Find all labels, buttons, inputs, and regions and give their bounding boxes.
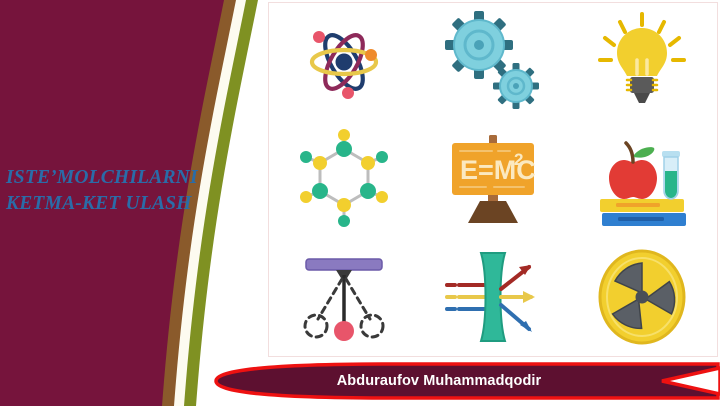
emc2-sign-icon: E=MC 2 — [438, 127, 548, 231]
icon-cell-radiation — [568, 238, 717, 356]
icon-cell-emc2-sign: E=MC 2 — [418, 121, 567, 239]
ribbon-shape — [210, 360, 720, 402]
icon-cell-atom — [269, 3, 418, 121]
emc2-text: E=MC — [460, 155, 536, 185]
atom-icon — [292, 10, 396, 114]
science-icon-grid: E=MC 2 — [269, 3, 717, 356]
gears-icon — [441, 10, 545, 114]
emc2-superscript: 2 — [514, 150, 523, 169]
molecule-icon — [292, 127, 396, 231]
title-line-1: ISTE’MOLCHILARNI — [6, 165, 256, 191]
icon-cell-lens — [418, 238, 567, 356]
lens-refraction-icon — [441, 245, 545, 349]
author-ribbon: Abduraufov Muhammadqodir — [210, 360, 720, 402]
title-line-2: KETMA-KET ULASH — [6, 191, 256, 217]
pendulum-icon — [292, 245, 396, 349]
apple-books-testtube-icon — [590, 127, 694, 231]
icon-cell-lightbulb — [568, 3, 717, 121]
slide-title: ISTE’MOLCHILARNI KETMA-KET ULASH — [6, 165, 256, 217]
radiation-icon — [590, 245, 694, 349]
gear-small — [493, 63, 539, 109]
ribbon-body — [216, 364, 718, 398]
icon-cell-apple-books — [568, 121, 717, 239]
icon-cell-pendulum — [269, 238, 418, 356]
icon-cell-molecule — [269, 121, 418, 239]
icon-cell-gears — [418, 3, 567, 121]
content-panel: E=MC 2 — [268, 2, 718, 357]
presentation-slide: ISTE’MOLCHILARNI KETMA-KET ULASH — [0, 0, 720, 406]
lightbulb-icon — [590, 10, 694, 114]
